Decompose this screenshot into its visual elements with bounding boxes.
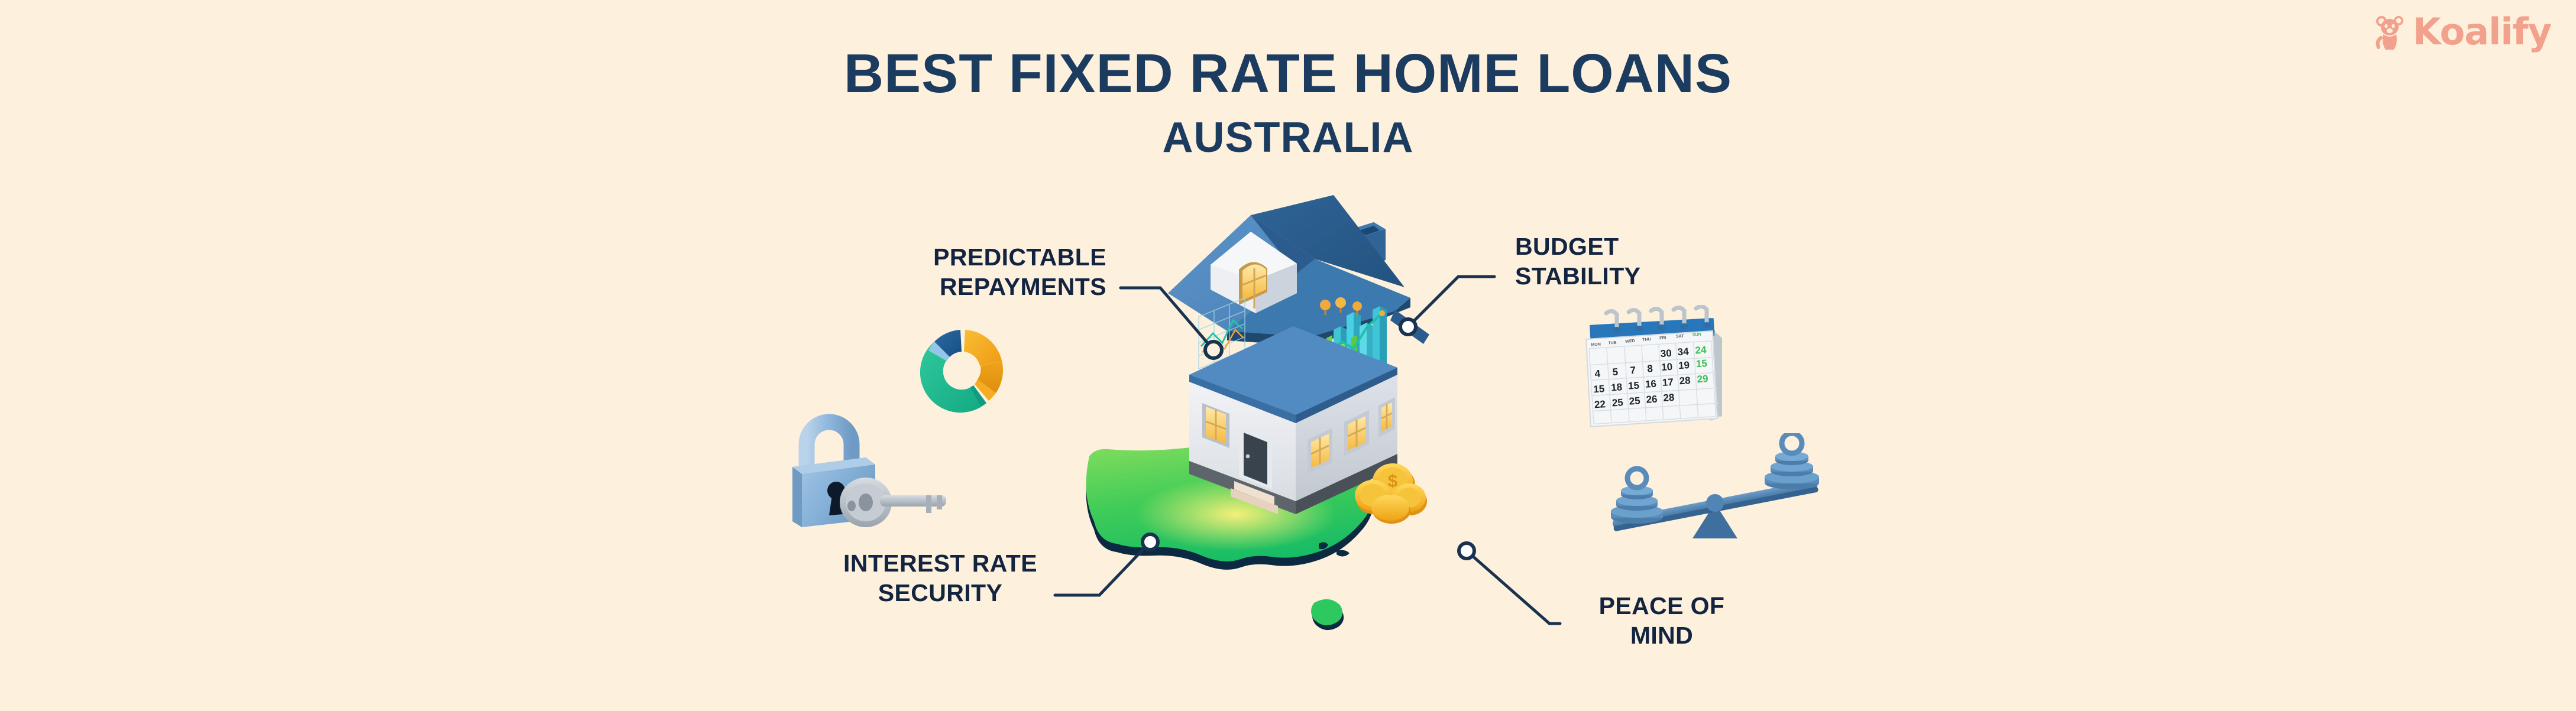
svg-text:5: 5: [1612, 366, 1619, 378]
svg-text:WED: WED: [1625, 339, 1635, 344]
svg-text:SAT: SAT: [1676, 335, 1685, 339]
svg-text:10: 10: [1661, 361, 1673, 373]
svg-text:28: 28: [1679, 375, 1691, 387]
svg-text:16: 16: [1645, 378, 1656, 390]
callout-label-peace-of-mind: PEACE OF MIND: [1573, 591, 1750, 650]
svg-text:25: 25: [1629, 395, 1640, 407]
svg-text:4: 4: [1594, 368, 1601, 380]
page-title: BEST FIXED RATE HOME LOANS: [0, 46, 2576, 101]
svg-text:15: 15: [1695, 358, 1707, 369]
svg-text:$: $: [1388, 472, 1398, 491]
svg-text:29: 29: [1697, 373, 1708, 385]
svg-text:34: 34: [1677, 346, 1690, 358]
calendar-icon: MONTUEWED THUFRISAT SUN 303424 4578 1019…: [1578, 305, 1726, 429]
svg-text:15: 15: [1593, 383, 1605, 395]
isometric-house-illustration: $: [1156, 194, 1434, 525]
svg-text:25: 25: [1611, 397, 1623, 408]
svg-text:MON: MON: [1591, 342, 1601, 347]
callout-label-interest-rate-security: INTEREST RATE SECURITY: [828, 548, 1053, 608]
brand-name: Koalify: [2413, 14, 2551, 50]
svg-text:30: 30: [1660, 348, 1672, 359]
svg-text:THU: THU: [1642, 337, 1651, 342]
svg-text:SUN: SUN: [1692, 333, 1701, 337]
svg-text:26: 26: [1646, 394, 1658, 405]
callout-label-predictable-repayments: PREDICTABLE REPAYMENTS: [858, 242, 1106, 301]
svg-text:7: 7: [1630, 365, 1636, 376]
svg-text:FRI: FRI: [1659, 336, 1666, 340]
page-subtitle: AUSTRALIA: [0, 116, 2576, 159]
balance-scale-icon: [1597, 433, 1833, 543]
svg-text:TUE: TUE: [1608, 341, 1617, 346]
svg-text:24: 24: [1695, 344, 1707, 356]
svg-text:18: 18: [1611, 381, 1623, 393]
svg-text:28: 28: [1663, 392, 1675, 404]
svg-text:19: 19: [1678, 359, 1690, 371]
brand-logo[interactable]: Koalify: [2374, 13, 2551, 51]
svg-text:22: 22: [1594, 398, 1606, 410]
svg-text:8: 8: [1647, 363, 1653, 375]
house-roof: [1168, 195, 1429, 346]
padlock-key-icon: [776, 405, 956, 527]
callout-label-budget-stability: BUDGET STABILITY: [1515, 232, 1763, 291]
svg-text:15: 15: [1628, 380, 1640, 392]
page-title-block: BEST FIXED RATE HOME LOANS AUSTRALIA: [0, 46, 2576, 159]
svg-text:17: 17: [1662, 376, 1674, 388]
koala-icon: [2374, 13, 2409, 51]
infographic-canvas: BEST FIXED RATE HOME LOANS AUSTRALIA Koa…: [0, 0, 2576, 711]
